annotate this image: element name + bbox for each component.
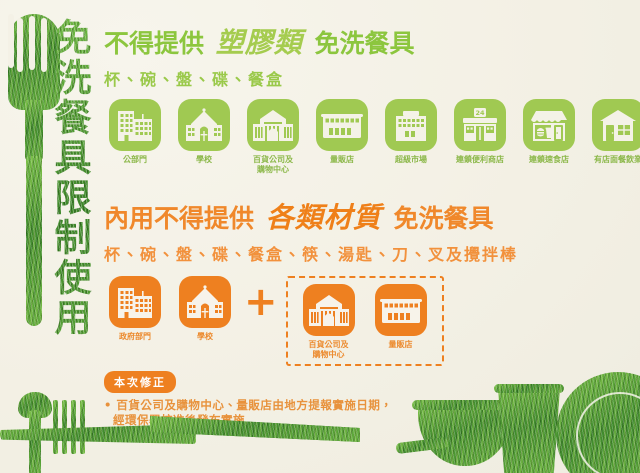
orange-tile-row: 政府部門 (104, 276, 518, 366)
orange-section: 內用不得提供 各類材質 免洗餐具 杯、碗、盤、碟、餐盒、筷、湯匙、刀、叉及攪拌棒 (104, 203, 518, 366)
note-block: 本次修正 • 百貨公司及購物中心、量販店由地方提報實施日期， 經環保署核准後發布… (104, 371, 392, 428)
poster-canvas: 免洗餐具限制使用 不得提供 塑膠類 免洗餐具 杯、碗、盤、碟、餐盒 (0, 0, 640, 473)
supermarket-icon (385, 99, 437, 151)
green-heading: 不得提供 塑膠類 免洗餐具 (104, 28, 640, 59)
orange-heading-pre: 內用不得提供 (104, 204, 254, 233)
poster-content: 不得提供 塑膠類 免洗餐具 杯、碗、盤、碟、餐盒 (104, 0, 640, 473)
convenience-store-icon: 24 (454, 99, 506, 151)
restaurant-icon (592, 99, 640, 151)
newly-added-group: 百貨公司及 購物中心 (286, 276, 444, 366)
tile-label: 量販店 (311, 155, 373, 165)
office-buildings-icon (109, 276, 161, 328)
department-store-icon (303, 284, 355, 336)
tile-department-store-orange[interactable]: 百貨公司及 購物中心 (298, 284, 360, 360)
cup-rim (494, 384, 564, 393)
tile-label: 學校 (174, 332, 236, 342)
fork-tine (29, 16, 35, 70)
green-heading-pre: 不得提供 (104, 29, 204, 58)
tile-label-line2: 購物中心 (313, 350, 345, 359)
orange-heading-post: 免洗餐具 (393, 204, 493, 233)
tile-hypermarket-orange[interactable]: 量販店 (370, 284, 432, 350)
fork-tine (17, 18, 23, 72)
orange-base-tiles: 政府部門 (104, 276, 236, 342)
tile-school-orange[interactable]: 學校 (174, 276, 236, 342)
grass-cup-decoration (498, 388, 560, 473)
tile-label: 百貨公司及 購物中心 (242, 155, 304, 175)
orange-new-tiles: 百貨公司及 購物中心 (298, 284, 432, 360)
tile-label: 學校 (173, 155, 235, 165)
orange-subtitle: 杯、碗、盤、碟、餐盒、筷、湯匙、刀、叉及攪拌棒 (104, 241, 518, 265)
tile-label: 政府部門 (104, 332, 166, 342)
tile-label: 連鎖便利商店 (449, 155, 511, 165)
tile-label-line2: 購物中心 (257, 165, 289, 174)
tile-department-store[interactable]: 百貨公司及 購物中心 (242, 99, 304, 175)
grass-spoon-stem-decoration (29, 410, 41, 473)
fork-handle (26, 156, 42, 326)
tile-label: 有店面餐飲業 (587, 155, 640, 165)
tile-fast-food-store[interactable]: 連鎖速食店 (518, 99, 580, 165)
fork-tine (8, 14, 14, 68)
green-section: 不得提供 塑膠類 免洗餐具 杯、碗、盤、碟、餐盒 (104, 28, 640, 175)
status-badge: 本次修正 (104, 371, 176, 393)
tile-label: 連鎖速食店 (518, 155, 580, 165)
green-heading-post: 免洗餐具 (314, 29, 414, 58)
tile-supermarket[interactable]: 超級市場 (380, 99, 442, 165)
tile-label: 量販店 (370, 340, 432, 350)
tile-public-sector[interactable]: 公部門 (104, 99, 166, 165)
tile-label: 公部門 (104, 155, 166, 165)
green-subtitle: 杯、碗、盤、碟、餐盒 (104, 66, 640, 90)
note-bullet-line1: • 百貨公司及購物中心、量販店由地方提報實施日期， (104, 398, 392, 413)
tile-convenience-store[interactable]: 24 (449, 99, 511, 165)
hypermarket-icon (375, 284, 427, 336)
green-heading-emphasis: 塑膠類 (213, 26, 306, 59)
tile-label: 超級市場 (380, 155, 442, 165)
office-buildings-icon (109, 99, 161, 151)
fork-neck (25, 100, 43, 162)
tile-label-line1: 百貨公司及 (253, 155, 293, 164)
tile-government-department[interactable]: 政府部門 (104, 276, 166, 342)
fast-food-store-icon (523, 99, 575, 151)
school-icon (179, 276, 231, 328)
tile-label-line1: 百貨公司及 (309, 340, 349, 349)
school-icon (178, 99, 230, 151)
title-stripes-decoration (52, 400, 86, 454)
tile-hypermarket[interactable]: 量販店 (311, 99, 373, 165)
orange-heading-emphasis: 各類材質 (263, 201, 385, 234)
tile-restaurant[interactable]: 有店面餐飲業 (587, 99, 640, 165)
poster-vertical-title: 免洗餐具限制使用 (46, 18, 92, 402)
hypermarket-icon (316, 99, 368, 151)
tile-school[interactable]: 學校 (173, 99, 235, 165)
plus-icon: + (244, 276, 278, 328)
department-store-icon (247, 99, 299, 151)
orange-heading: 內用不得提供 各類材質 免洗餐具 (104, 203, 518, 234)
green-tile-row: 公部門 (104, 99, 640, 175)
tile-label: 百貨公司及 購物中心 (298, 340, 360, 360)
svg-text:24: 24 (475, 109, 485, 117)
